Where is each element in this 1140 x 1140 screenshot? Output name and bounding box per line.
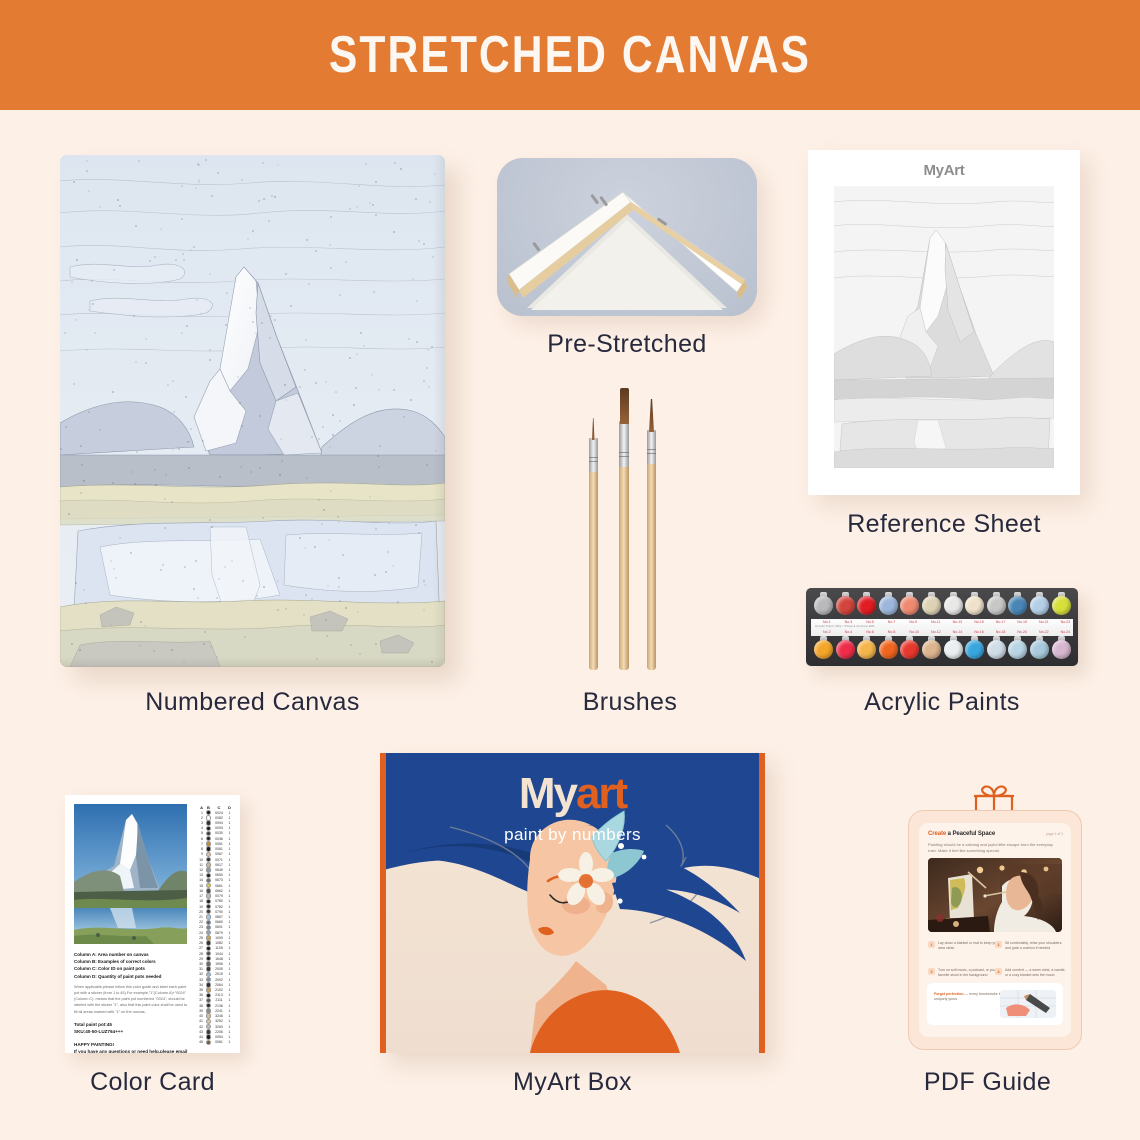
brush-flat xyxy=(619,387,629,670)
color-card-row: 2408791 xyxy=(195,930,235,935)
color-card-row: 300941 xyxy=(195,820,235,825)
cell-area-number: 18 xyxy=(195,899,205,903)
color-card-row: 1807801 xyxy=(195,899,235,904)
color-card-row: 2916481 xyxy=(195,956,235,961)
cell-color-id: 2241 xyxy=(212,1009,226,1013)
cell-area-number: 25 xyxy=(195,936,205,940)
paint-label-number: No.12 xyxy=(931,630,941,634)
cell-area-number: 45 xyxy=(195,1040,205,1044)
cell-quantity: 1 xyxy=(226,816,233,820)
infographic-page: STRETCHED CANVAS xyxy=(0,0,1140,1140)
cell-quantity: 1 xyxy=(226,1004,233,1008)
pdf-guide-footer: Forget perfection — every brushstroke is… xyxy=(927,983,1063,1025)
cell-quantity: 1 xyxy=(226,983,233,987)
paint-label-number: No.20 xyxy=(1017,630,1027,634)
reference-sheet-artwork xyxy=(834,186,1054,468)
paint-label-number: No.10 xyxy=(909,630,919,634)
paint-pot xyxy=(944,596,963,615)
cell-quantity: 1 xyxy=(226,946,233,950)
cell-quantity: 1 xyxy=(226,894,233,898)
paint-pot xyxy=(987,596,1006,615)
color-card-row: 3922411 xyxy=(195,1008,235,1013)
paint-label-number: No.4 xyxy=(845,630,853,634)
pdf-tip-text: Sit comfortably, relax your shoulders, a… xyxy=(1005,941,1067,951)
caption-pdf-guide: PDF Guide xyxy=(880,1068,1095,1097)
cell-color-id: 0782 xyxy=(212,905,226,909)
paint-pot xyxy=(857,640,876,659)
cell-area-number: 44 xyxy=(195,1035,205,1039)
caption-reference-sheet: Reference Sheet xyxy=(808,510,1080,539)
pdf-tip-icon: 3 xyxy=(928,968,935,975)
cell-area-number: 3 xyxy=(195,821,205,825)
cell-color-id: 0024 xyxy=(212,811,226,815)
paint-pot xyxy=(814,640,833,659)
pdf-title-highlight: Create xyxy=(928,831,946,837)
th-c: C xyxy=(212,805,226,810)
cell-area-number: 35 xyxy=(195,988,205,992)
acrylic-paints-image: Acrylic Paint 4ML / Pintura Acrilica 4ML… xyxy=(806,588,1078,666)
canvas-frame-corner-art xyxy=(497,158,757,316)
cell-area-number: 20 xyxy=(195,910,205,914)
color-card-row: 3320921 xyxy=(195,977,235,982)
cell-quantity: 1 xyxy=(226,847,233,851)
cell-area-number: 13 xyxy=(195,873,205,877)
cell-color-id: 3246 xyxy=(212,1014,226,1018)
pdf-guide-image: Create a Peaceful Space page 1 of 1 Pain… xyxy=(908,810,1082,1050)
cell-area-number: 29 xyxy=(195,957,205,961)
color-card-row: 1106171 xyxy=(195,862,235,867)
paint-label-number: No.17 xyxy=(996,620,1006,624)
cell-color-id: 0061 xyxy=(212,1040,226,1044)
cell-area-number: 17 xyxy=(195,894,205,898)
cell-quantity: 1 xyxy=(226,988,233,992)
color-card-legend: Column A: Area number on canvas Column B… xyxy=(74,951,190,1053)
color-card-row: 100241 xyxy=(195,810,235,815)
caption-brushes: Brushes xyxy=(505,688,755,717)
cell-color-id: 0661 xyxy=(212,884,226,888)
cell-quantity: 1 xyxy=(226,842,233,846)
color-card-row: 200821 xyxy=(195,815,235,820)
color-card-row: 1000711 xyxy=(195,857,235,862)
cell-color-id: 2113 xyxy=(212,993,226,997)
cell-color-id: 2136 xyxy=(212,1004,226,1008)
cell-color-id: 0601 xyxy=(212,925,226,929)
paint-label-number: No.3 xyxy=(845,620,853,624)
cell-quantity: 1 xyxy=(226,962,233,966)
cell-color-id: 0079 xyxy=(212,894,226,898)
cell-quantity: 1 xyxy=(226,1035,233,1039)
paint-pot xyxy=(814,596,833,615)
color-card-column-d: Column D: Quantity of paint pots needed xyxy=(74,973,190,980)
pdf-tip-text: Lay down a blanket or mat to keep your a… xyxy=(938,941,1000,951)
cell-quantity: 1 xyxy=(226,905,233,909)
color-card-row: 700511 xyxy=(195,841,235,846)
pdf-tip-icon: 1 xyxy=(928,941,935,948)
reference-sheet-logo: MyArt xyxy=(808,162,1080,179)
cell-area-number: 14 xyxy=(195,878,205,882)
cell-color-id: 1996 xyxy=(212,962,226,966)
canvas-bottom-edge xyxy=(60,657,445,667)
color-card-total: Total paint pot:45 xyxy=(74,1021,190,1028)
paint-label-number: No.11 xyxy=(931,620,940,624)
cell-quantity: 1 xyxy=(226,837,233,841)
paint-label-number: No.2 xyxy=(823,630,831,634)
pdf-tip-text: Turn on soft music, a podcast, or your f… xyxy=(938,968,1000,978)
cell-area-number: 2 xyxy=(195,816,205,820)
cell-quantity: 1 xyxy=(226,941,233,945)
color-card-row: 2711051 xyxy=(195,946,235,951)
color-card-row: 4232631 xyxy=(195,1024,235,1029)
color-card-row: 4132521 xyxy=(195,1019,235,1024)
brushes-image xyxy=(575,385,685,670)
color-card-row: 1506611 xyxy=(195,883,235,888)
paint-label-number: No.22 xyxy=(1039,630,1049,634)
cell-area-number: 42 xyxy=(195,1025,205,1029)
cell-quantity: 1 xyxy=(226,925,233,929)
cell-area-number: 9 xyxy=(195,852,205,856)
cell-area-number: 5 xyxy=(195,831,205,835)
color-card-row: 1306501 xyxy=(195,873,235,878)
paint-label-number: No.24 xyxy=(1061,630,1071,634)
cell-area-number: 31 xyxy=(195,967,205,971)
color-card-row: 3821361 xyxy=(195,1003,235,1008)
color-card-row: 4500611 xyxy=(195,1040,235,1045)
color-card-instructions: When applicable,please follow this color… xyxy=(74,984,190,1015)
cell-color-id: 0879 xyxy=(212,931,226,935)
color-card-row: 3721111 xyxy=(195,998,235,1003)
paint-label-number: No.8 xyxy=(888,630,896,634)
color-card-photo xyxy=(74,804,187,944)
color-card-row: 2306011 xyxy=(195,925,235,930)
paint-pot xyxy=(1030,596,1049,615)
paint-pot xyxy=(857,596,876,615)
cell-quantity: 1 xyxy=(226,858,233,862)
pdf-tip-icon: 2 xyxy=(995,941,1002,948)
paint-pot xyxy=(944,640,963,659)
color-card-row: 1206491 xyxy=(195,867,235,872)
cell-area-number: 27 xyxy=(195,946,205,950)
paint-pot xyxy=(1052,640,1071,659)
color-card-row: 3120051 xyxy=(195,967,235,972)
color-card-row: 3420641 xyxy=(195,982,235,987)
cell-area-number: 37 xyxy=(195,998,205,1002)
paint-label-number: No.16 xyxy=(974,630,984,634)
color-card-row: 3220151 xyxy=(195,972,235,977)
cell-quantity: 1 xyxy=(226,811,233,815)
cell-area-number: 4 xyxy=(195,826,205,830)
color-card-table: A B C D 10024120082130094140093150030160… xyxy=(195,805,235,1045)
cell-color-id: 0071 xyxy=(212,858,226,862)
header-banner: STRETCHED CANVAS xyxy=(0,0,1140,110)
cell-quantity: 1 xyxy=(226,972,233,976)
cell-area-number: 6 xyxy=(195,837,205,841)
cell-quantity: 1 xyxy=(226,884,233,888)
cell-quantity: 1 xyxy=(226,978,233,982)
cell-area-number: 24 xyxy=(195,931,205,935)
cell-quantity: 1 xyxy=(226,899,233,903)
cell-quantity: 1 xyxy=(226,1040,233,1044)
myart-logo: Myart xyxy=(380,769,765,819)
cell-quantity: 1 xyxy=(226,920,233,924)
cell-quantity: 1 xyxy=(226,1019,233,1023)
cell-quantity: 1 xyxy=(226,1030,233,1034)
cell-color-id: 0780 xyxy=(212,899,226,903)
paint-pot xyxy=(922,596,941,615)
caption-color-card: Color Card xyxy=(45,1068,260,1097)
cell-area-number: 15 xyxy=(195,884,205,888)
cell-quantity: 1 xyxy=(226,821,233,825)
cell-quantity: 1 xyxy=(226,1014,233,1018)
color-card-row: 2206601 xyxy=(195,920,235,925)
color-card-row: 1606621 xyxy=(195,888,235,893)
paint-pot xyxy=(1052,596,1071,615)
color-card-sku: SKU:40-50-LUZ764+++ xyxy=(74,1028,190,1035)
paint-pot xyxy=(965,640,984,659)
paint-label-number: No.18 xyxy=(996,630,1006,634)
color-card-image: Column A: Area number on canvas Column B… xyxy=(65,795,240,1053)
cell-area-number: 36 xyxy=(195,993,205,997)
cell-color-id: 0650 xyxy=(212,873,226,877)
cell-color-id: 2064 xyxy=(212,983,226,987)
cell-area-number: 40 xyxy=(195,1014,205,1018)
cell-color-id: 2015 xyxy=(212,972,226,976)
cell-quantity: 1 xyxy=(226,967,233,971)
color-card-column-a: Column A: Area number on canvas xyxy=(74,951,190,958)
cell-quantity: 1 xyxy=(226,1009,233,1013)
cell-area-number: 7 xyxy=(195,842,205,846)
paint-pot xyxy=(987,640,1006,659)
color-card-row: 3521021 xyxy=(195,987,235,992)
cell-area-number: 22 xyxy=(195,920,205,924)
caption-numbered-canvas: Numbered Canvas xyxy=(60,688,445,717)
cell-color-id: 1009 xyxy=(212,936,226,940)
paint-label-number: No.21 xyxy=(1039,620,1049,624)
cell-color-id: 0051 xyxy=(212,842,226,846)
cell-color-id: 1105 xyxy=(212,946,226,950)
paint-label-number: No.15 xyxy=(974,620,984,624)
paint-label-number: No.9 xyxy=(909,620,917,624)
paint-pot xyxy=(836,596,855,615)
paint-pot xyxy=(900,640,919,659)
pdf-page-label: page 1 of 1 xyxy=(1046,832,1063,836)
cell-color-id: 2111 xyxy=(212,998,226,1002)
color-card-row: 500301 xyxy=(195,831,235,836)
cell-area-number: 16 xyxy=(195,889,205,893)
cell-quantity: 1 xyxy=(226,1025,233,1029)
cell-area-number: 28 xyxy=(195,952,205,956)
color-card-row: 2007901 xyxy=(195,909,235,914)
caption-pre-stretched: Pre-Stretched xyxy=(497,330,757,359)
paint-pot xyxy=(879,640,898,659)
paint-pot xyxy=(1008,596,1027,615)
cell-color-id: 1648 xyxy=(212,957,226,961)
cell-color-id: 0030 xyxy=(212,831,226,835)
paint-label-number: No.14 xyxy=(953,630,963,634)
paint-label-number: No.6 xyxy=(866,630,874,634)
cell-quantity: 1 xyxy=(226,998,233,1002)
color-card-row: 1406731 xyxy=(195,878,235,883)
cell-area-number: 33 xyxy=(195,978,205,982)
page-title: STRETCHED CANVAS xyxy=(329,25,811,85)
paint-pot xyxy=(922,640,941,659)
cell-area-number: 43 xyxy=(195,1030,205,1034)
reference-sheet-image: MyArt xyxy=(808,150,1080,495)
cell-quantity: 1 xyxy=(226,873,233,877)
cell-color-id: 0662 xyxy=(212,889,226,893)
cell-color-id: 0649 xyxy=(212,868,226,872)
cell-color-id: 1082 xyxy=(212,941,226,945)
paint-label-number: No.19 xyxy=(1017,620,1027,624)
cell-color-id: 2206 xyxy=(212,1030,226,1034)
paint-pot xyxy=(836,640,855,659)
pdf-tip-text: Add comfort — a warm drink, a candle, or… xyxy=(1005,968,1067,978)
numbered-canvas-image xyxy=(60,155,445,667)
cell-area-number: 26 xyxy=(195,941,205,945)
pdf-guide-photo xyxy=(928,858,1062,932)
caption-acrylic-paints: Acrylic Paints xyxy=(806,688,1078,717)
cell-quantity: 1 xyxy=(226,852,233,856)
cell-quantity: 1 xyxy=(226,831,233,835)
cell-quantity: 1 xyxy=(226,826,233,830)
cell-color-id: 0054 xyxy=(212,1035,226,1039)
cell-color-id: 0660 xyxy=(212,920,226,924)
cell-area-number: 10 xyxy=(195,858,205,862)
th-a: A xyxy=(195,805,205,810)
cell-quantity: 1 xyxy=(226,863,233,867)
cell-color-id: 1044 xyxy=(212,952,226,956)
pre-stretched-image xyxy=(497,158,757,316)
cell-color-id: 0790 xyxy=(212,910,226,914)
cell-area-number: 30 xyxy=(195,962,205,966)
cell-color-id: 3252 xyxy=(212,1019,226,1023)
pdf-title-rest: a Peaceful Space xyxy=(946,831,995,837)
cell-area-number: 32 xyxy=(195,972,205,976)
cell-color-id: 2005 xyxy=(212,967,226,971)
paint-tray-label-note: Acrylic Paint 4ML / Pintura Acrilica 4ML xyxy=(815,624,875,628)
color-card-column-b: Column B: Examples of correct colors xyxy=(74,958,190,965)
box-tagline: paint by numbers xyxy=(380,825,765,845)
brush-liner xyxy=(589,420,598,670)
color-card-row: 4032461 xyxy=(195,1014,235,1019)
color-card-row: 400931 xyxy=(195,826,235,831)
color-card-row: 600361 xyxy=(195,836,235,841)
myart-box-image: Myart paint by numbers xyxy=(380,753,765,1053)
color-card-row: 4322061 xyxy=(195,1029,235,1034)
pdf-footer-highlight: Forget perfection xyxy=(934,992,964,996)
pdf-footer-text: Forget perfection — every brushstroke is… xyxy=(934,992,1002,1003)
color-card-table-header: A B C D xyxy=(195,805,235,810)
paint-pot xyxy=(1008,640,1027,659)
pdf-guide-card: Create a Peaceful Space page 1 of 1 Pain… xyxy=(919,823,1071,1037)
color-card-happy: HAPPY PAINTING! xyxy=(74,1041,190,1048)
cell-quantity: 1 xyxy=(226,993,233,997)
paint-pot xyxy=(965,596,984,615)
paint-pot xyxy=(879,596,898,615)
cell-area-number: 41 xyxy=(195,1019,205,1023)
cell-quantity: 1 xyxy=(226,910,233,914)
pdf-footer-image xyxy=(1000,990,1056,1018)
color-card-row: 3019961 xyxy=(195,961,235,966)
cell-quantity: 1 xyxy=(226,915,233,919)
cell-area-number: 8 xyxy=(195,847,205,851)
paint-pot xyxy=(1030,640,1049,659)
cell-color-id: 0094 xyxy=(212,821,226,825)
color-card-row: 1700791 xyxy=(195,894,235,899)
paint-label-number: No.1 xyxy=(823,620,831,624)
logo-art-text: art xyxy=(576,769,626,818)
paint-pot xyxy=(900,596,919,615)
logo-my-text: My xyxy=(519,769,576,818)
cell-quantity: 1 xyxy=(226,957,233,961)
cell-quantity: 1 xyxy=(226,936,233,940)
color-card-table-body: 1002412008213009414009315003016003617005… xyxy=(195,810,235,1045)
cell-quantity: 1 xyxy=(226,889,233,893)
pdf-tip-icon: 4 xyxy=(995,968,1002,975)
color-card-row: 800611 xyxy=(195,847,235,852)
cell-area-number: 23 xyxy=(195,925,205,929)
cell-color-id: 0093 xyxy=(212,826,226,830)
cell-area-number: 34 xyxy=(195,983,205,987)
pdf-guide-subtitle: Painting should be a calming and joyful … xyxy=(928,842,1060,854)
cell-area-number: 12 xyxy=(195,868,205,872)
cell-color-swatch xyxy=(205,1040,212,1045)
color-card-row: 3621131 xyxy=(195,993,235,998)
cell-color-id: 0082 xyxy=(212,816,226,820)
cell-quantity: 1 xyxy=(226,868,233,872)
cell-color-id: 0673 xyxy=(212,878,226,882)
cell-color-id: 2092 xyxy=(212,978,226,982)
cell-quantity: 1 xyxy=(226,931,233,935)
pdf-guide-title: Create a Peaceful Space xyxy=(928,831,995,837)
paint-label-number: No.5 xyxy=(866,620,874,624)
cell-area-number: 38 xyxy=(195,1004,205,1008)
cell-color-id: 0061 xyxy=(212,847,226,851)
color-card-column-c: Column C: Color ID on paint pots xyxy=(74,965,190,972)
cell-color-id: 3263 xyxy=(212,1025,226,1029)
cell-color-id: 0617 xyxy=(212,863,226,867)
canvas-side-edge xyxy=(433,155,445,667)
cell-area-number: 21 xyxy=(195,915,205,919)
color-card-row: 2810441 xyxy=(195,951,235,956)
cell-color-id: 2102 xyxy=(212,988,226,992)
cell-color-id: 0867 xyxy=(212,915,226,919)
color-card-row: 4400541 xyxy=(195,1034,235,1039)
cell-area-number: 1 xyxy=(195,811,205,815)
cell-area-number: 11 xyxy=(195,863,205,867)
cell-color-id: 0036 xyxy=(212,837,226,841)
color-card-row: 2610821 xyxy=(195,940,235,945)
paint-label-number: No.23 xyxy=(1061,620,1071,624)
cell-color-id: 0067 xyxy=(212,852,226,856)
paint-label-number: No.7 xyxy=(888,620,896,624)
cell-quantity: 1 xyxy=(226,878,233,882)
brush-round xyxy=(647,400,656,670)
color-card-row: 2108671 xyxy=(195,914,235,919)
cell-quantity: 1 xyxy=(226,952,233,956)
th-d: D xyxy=(226,805,233,810)
cell-area-number: 19 xyxy=(195,905,205,909)
caption-myart-box: MyArt Box xyxy=(380,1068,765,1097)
cell-area-number: 39 xyxy=(195,1009,205,1013)
color-card-row: 2510091 xyxy=(195,935,235,940)
color-card-row: 1907821 xyxy=(195,904,235,909)
paint-tray-label: Acrylic Paint 4ML / Pintura Acrilica 4ML… xyxy=(811,619,1073,636)
color-card-contact: If you have any questions or need help,p… xyxy=(74,1048,190,1053)
color-card-row: 900671 xyxy=(195,852,235,857)
paint-label-number: No.13 xyxy=(953,620,963,624)
